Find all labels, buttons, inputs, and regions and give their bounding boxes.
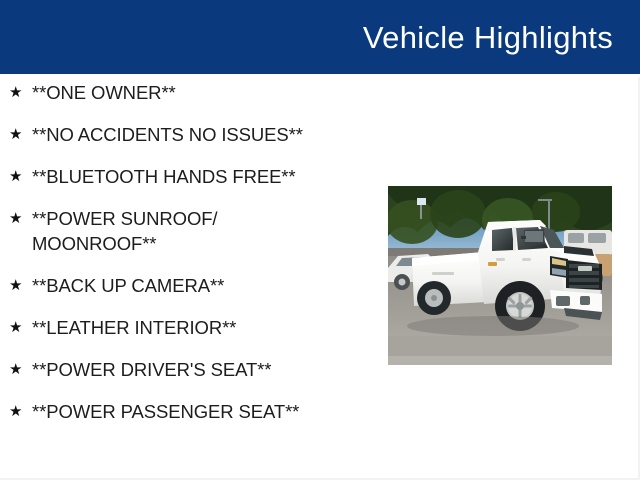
star-icon: ★ xyxy=(9,164,30,189)
vehicle-highlights-slide: Vehicle Highlights ★ **ONE OWNER** ★ **N… xyxy=(0,0,640,480)
list-item: ★ **POWER PASSENGER SEAT** xyxy=(0,399,380,424)
star-icon: ★ xyxy=(9,80,30,105)
vehicle-photo-illustration xyxy=(388,186,612,365)
highlight-text: **POWER DRIVER'S SEAT** xyxy=(32,357,380,382)
star-icon: ★ xyxy=(9,273,30,298)
highlight-text: **BLUETOOTH HANDS FREE** xyxy=(32,164,380,189)
list-item: ★ **LEATHER INTERIOR** xyxy=(0,315,380,340)
highlight-text: **BACK UP CAMERA** xyxy=(32,273,380,298)
vehicle-photo xyxy=(388,186,612,365)
star-icon: ★ xyxy=(9,399,30,424)
highlight-text: **ONE OWNER** xyxy=(32,80,380,105)
highlight-text: **LEATHER INTERIOR** xyxy=(32,315,380,340)
star-icon: ★ xyxy=(9,315,30,340)
star-icon: ★ xyxy=(9,357,30,382)
header-band: Vehicle Highlights xyxy=(0,0,640,74)
list-item: ★ **NO ACCIDENTS NO ISSUES** xyxy=(0,122,380,147)
page-title: Vehicle Highlights xyxy=(363,22,613,53)
star-icon: ★ xyxy=(9,122,30,147)
list-item: ★ **BLUETOOTH HANDS FREE** xyxy=(0,164,380,189)
list-item: ★ **POWER DRIVER'S SEAT** xyxy=(0,357,380,382)
highlight-text: **NO ACCIDENTS NO ISSUES** xyxy=(32,122,380,147)
star-icon: ★ xyxy=(9,206,30,231)
highlight-text: **POWER PASSENGER SEAT** xyxy=(32,399,380,424)
list-item: ★ **ONE OWNER** xyxy=(0,80,380,105)
vehicle-highlights-list: ★ **ONE OWNER** ★ **NO ACCIDENTS NO ISSU… xyxy=(0,80,380,441)
header-divider xyxy=(0,74,640,77)
list-item: ★ **BACK UP CAMERA** xyxy=(0,273,380,298)
list-item: ★ **POWER SUNROOF/ MOONROOF** xyxy=(0,206,380,256)
highlight-text: **POWER SUNROOF/ MOONROOF** xyxy=(32,206,380,256)
